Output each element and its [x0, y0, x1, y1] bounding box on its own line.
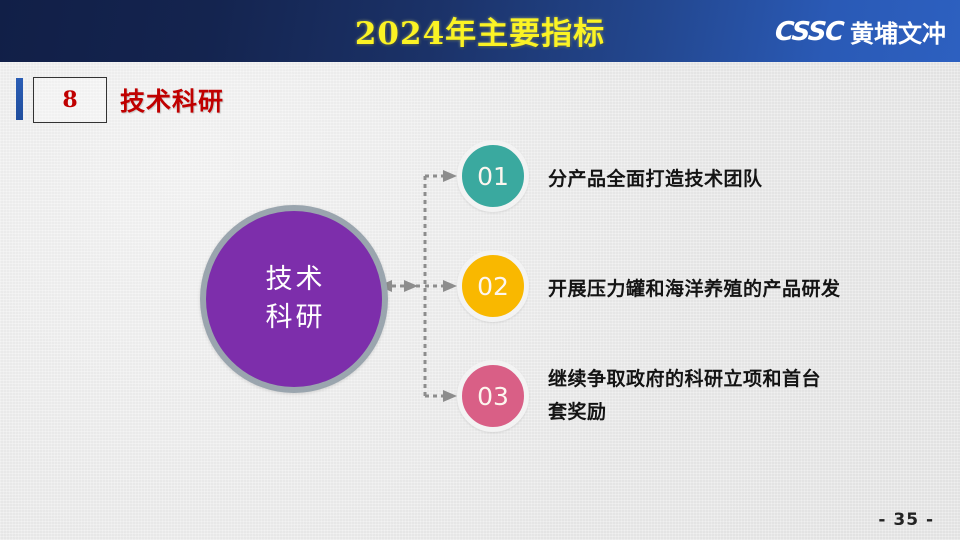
node-number-01: 01: [477, 162, 509, 191]
diagram-hub: 技术 科研: [200, 205, 388, 393]
section-accent-bar: [16, 78, 23, 120]
hub-label-line-2: 科研: [263, 299, 326, 337]
diagram-node-01[interactable]: 01: [457, 140, 529, 212]
node-label-03: 继续争取政府的科研立项和首台 套奖励: [548, 363, 888, 430]
slide: 2024年主要指标 CSSC 黄埔文冲 8 技术科研: [0, 0, 960, 540]
cssc-logo: CSSC 黄埔文冲: [775, 14, 946, 49]
section-number: 8: [62, 87, 77, 113]
logo-mark-text: CSSC: [774, 17, 844, 47]
logo-company-text: 黄埔文冲: [850, 14, 946, 49]
section-title: 技术科研: [120, 82, 224, 118]
node-number-03: 03: [477, 382, 509, 411]
diagram-node-02[interactable]: 02: [457, 250, 529, 322]
node-label-02: 开展压力罐和海洋养殖的产品研发: [548, 273, 841, 306]
hub-label-line-1: 技术: [263, 261, 326, 299]
page-number: - 35 -: [878, 510, 934, 530]
section-number-box: 8: [33, 77, 107, 123]
technology-research-diagram: 技术 科研 01 分产品全面打造技术团队 02 开展压力罐和海洋养殖的产品研发 …: [0, 125, 960, 455]
node-label-01: 分产品全面打造技术团队: [548, 163, 763, 196]
slide-header: 2024年主要指标 CSSC 黄埔文冲: [0, 0, 960, 62]
diagram-node-03[interactable]: 03: [457, 360, 529, 432]
node-number-02: 02: [477, 272, 509, 301]
